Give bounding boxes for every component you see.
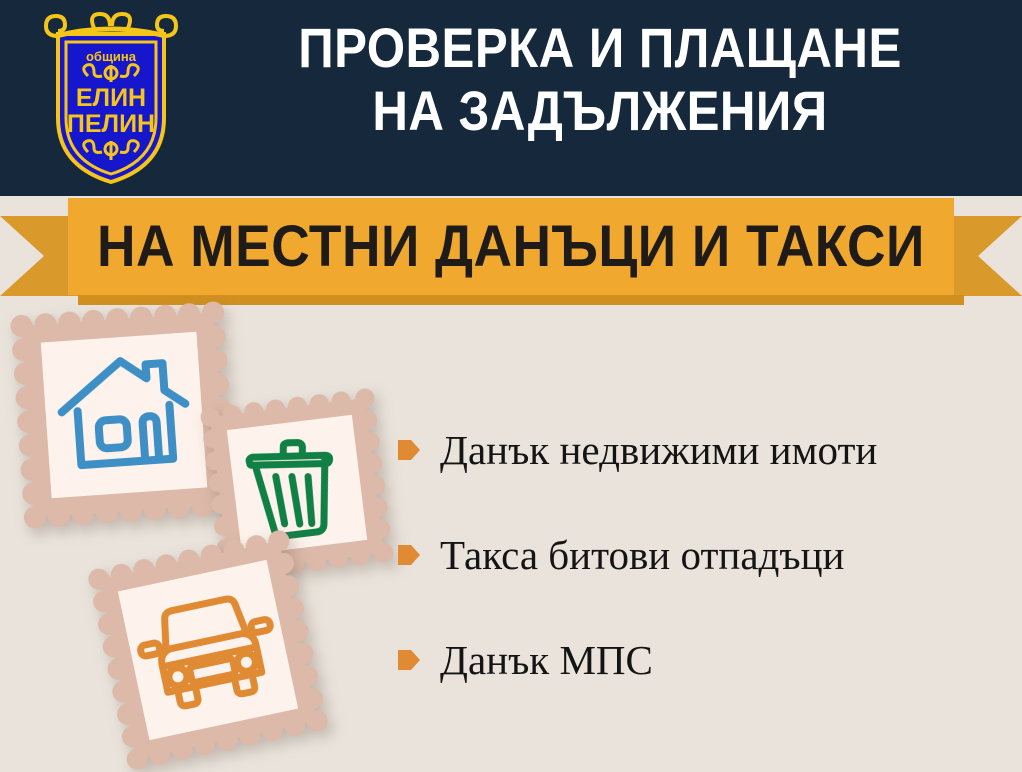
- list-item-label: Данък МПС: [440, 640, 653, 681]
- stamp-car: [83, 525, 332, 772]
- stamp-inner-car: [118, 560, 298, 740]
- municipality-logo: община ЕЛИН ПЕЛИН: [38, 8, 184, 188]
- logo-main-text-1: ЕЛИН: [76, 84, 146, 112]
- page-title-line-2: НА ЗАДЪЛЖЕНИЯ: [239, 79, 961, 142]
- list-item[interactable]: Данък МПС: [398, 635, 1008, 685]
- list-item[interactable]: Такса битови отпадъци: [398, 530, 1008, 580]
- arrow-bullet-icon: [398, 438, 420, 462]
- tax-type-list: Данък недвижими имоти Такса битови отпад…: [398, 425, 1008, 740]
- list-item-label: Данък недвижими имоти: [440, 430, 877, 471]
- ribbon-body: НА МЕСТНИ ДАНЪЦИ И ТАКСИ: [68, 198, 954, 295]
- page-title-line-1: ПРОВЕРКА И ПЛАЩАНЕ: [239, 16, 961, 79]
- ribbon-label: НА МЕСТНИ ДАНЪЦИ И ТАКСИ: [97, 213, 925, 280]
- poster-canvas: община ЕЛИН ПЕЛИН: [0, 0, 1022, 772]
- arrow-bullet-icon: [398, 543, 420, 567]
- header-banner: община ЕЛИН ПЕЛИН: [0, 0, 1022, 196]
- stamp-inner-house: [41, 332, 208, 499]
- subtitle-ribbon: НА МЕСТНИ ДАНЪЦИ И ТАКСИ: [0, 198, 1022, 303]
- logo-top-text: община: [86, 49, 137, 64]
- header-title-group: ПРОВЕРКА И ПЛАЩАНЕ НА ЗАДЪЛЖЕНИЯ: [190, 16, 1010, 143]
- logo-main-text-2: ПЕЛИН: [67, 110, 155, 138]
- arrow-bullet-icon: [398, 648, 420, 672]
- list-item-label: Такса битови отпадъци: [440, 535, 844, 576]
- list-item[interactable]: Данък недвижими имоти: [398, 425, 1008, 475]
